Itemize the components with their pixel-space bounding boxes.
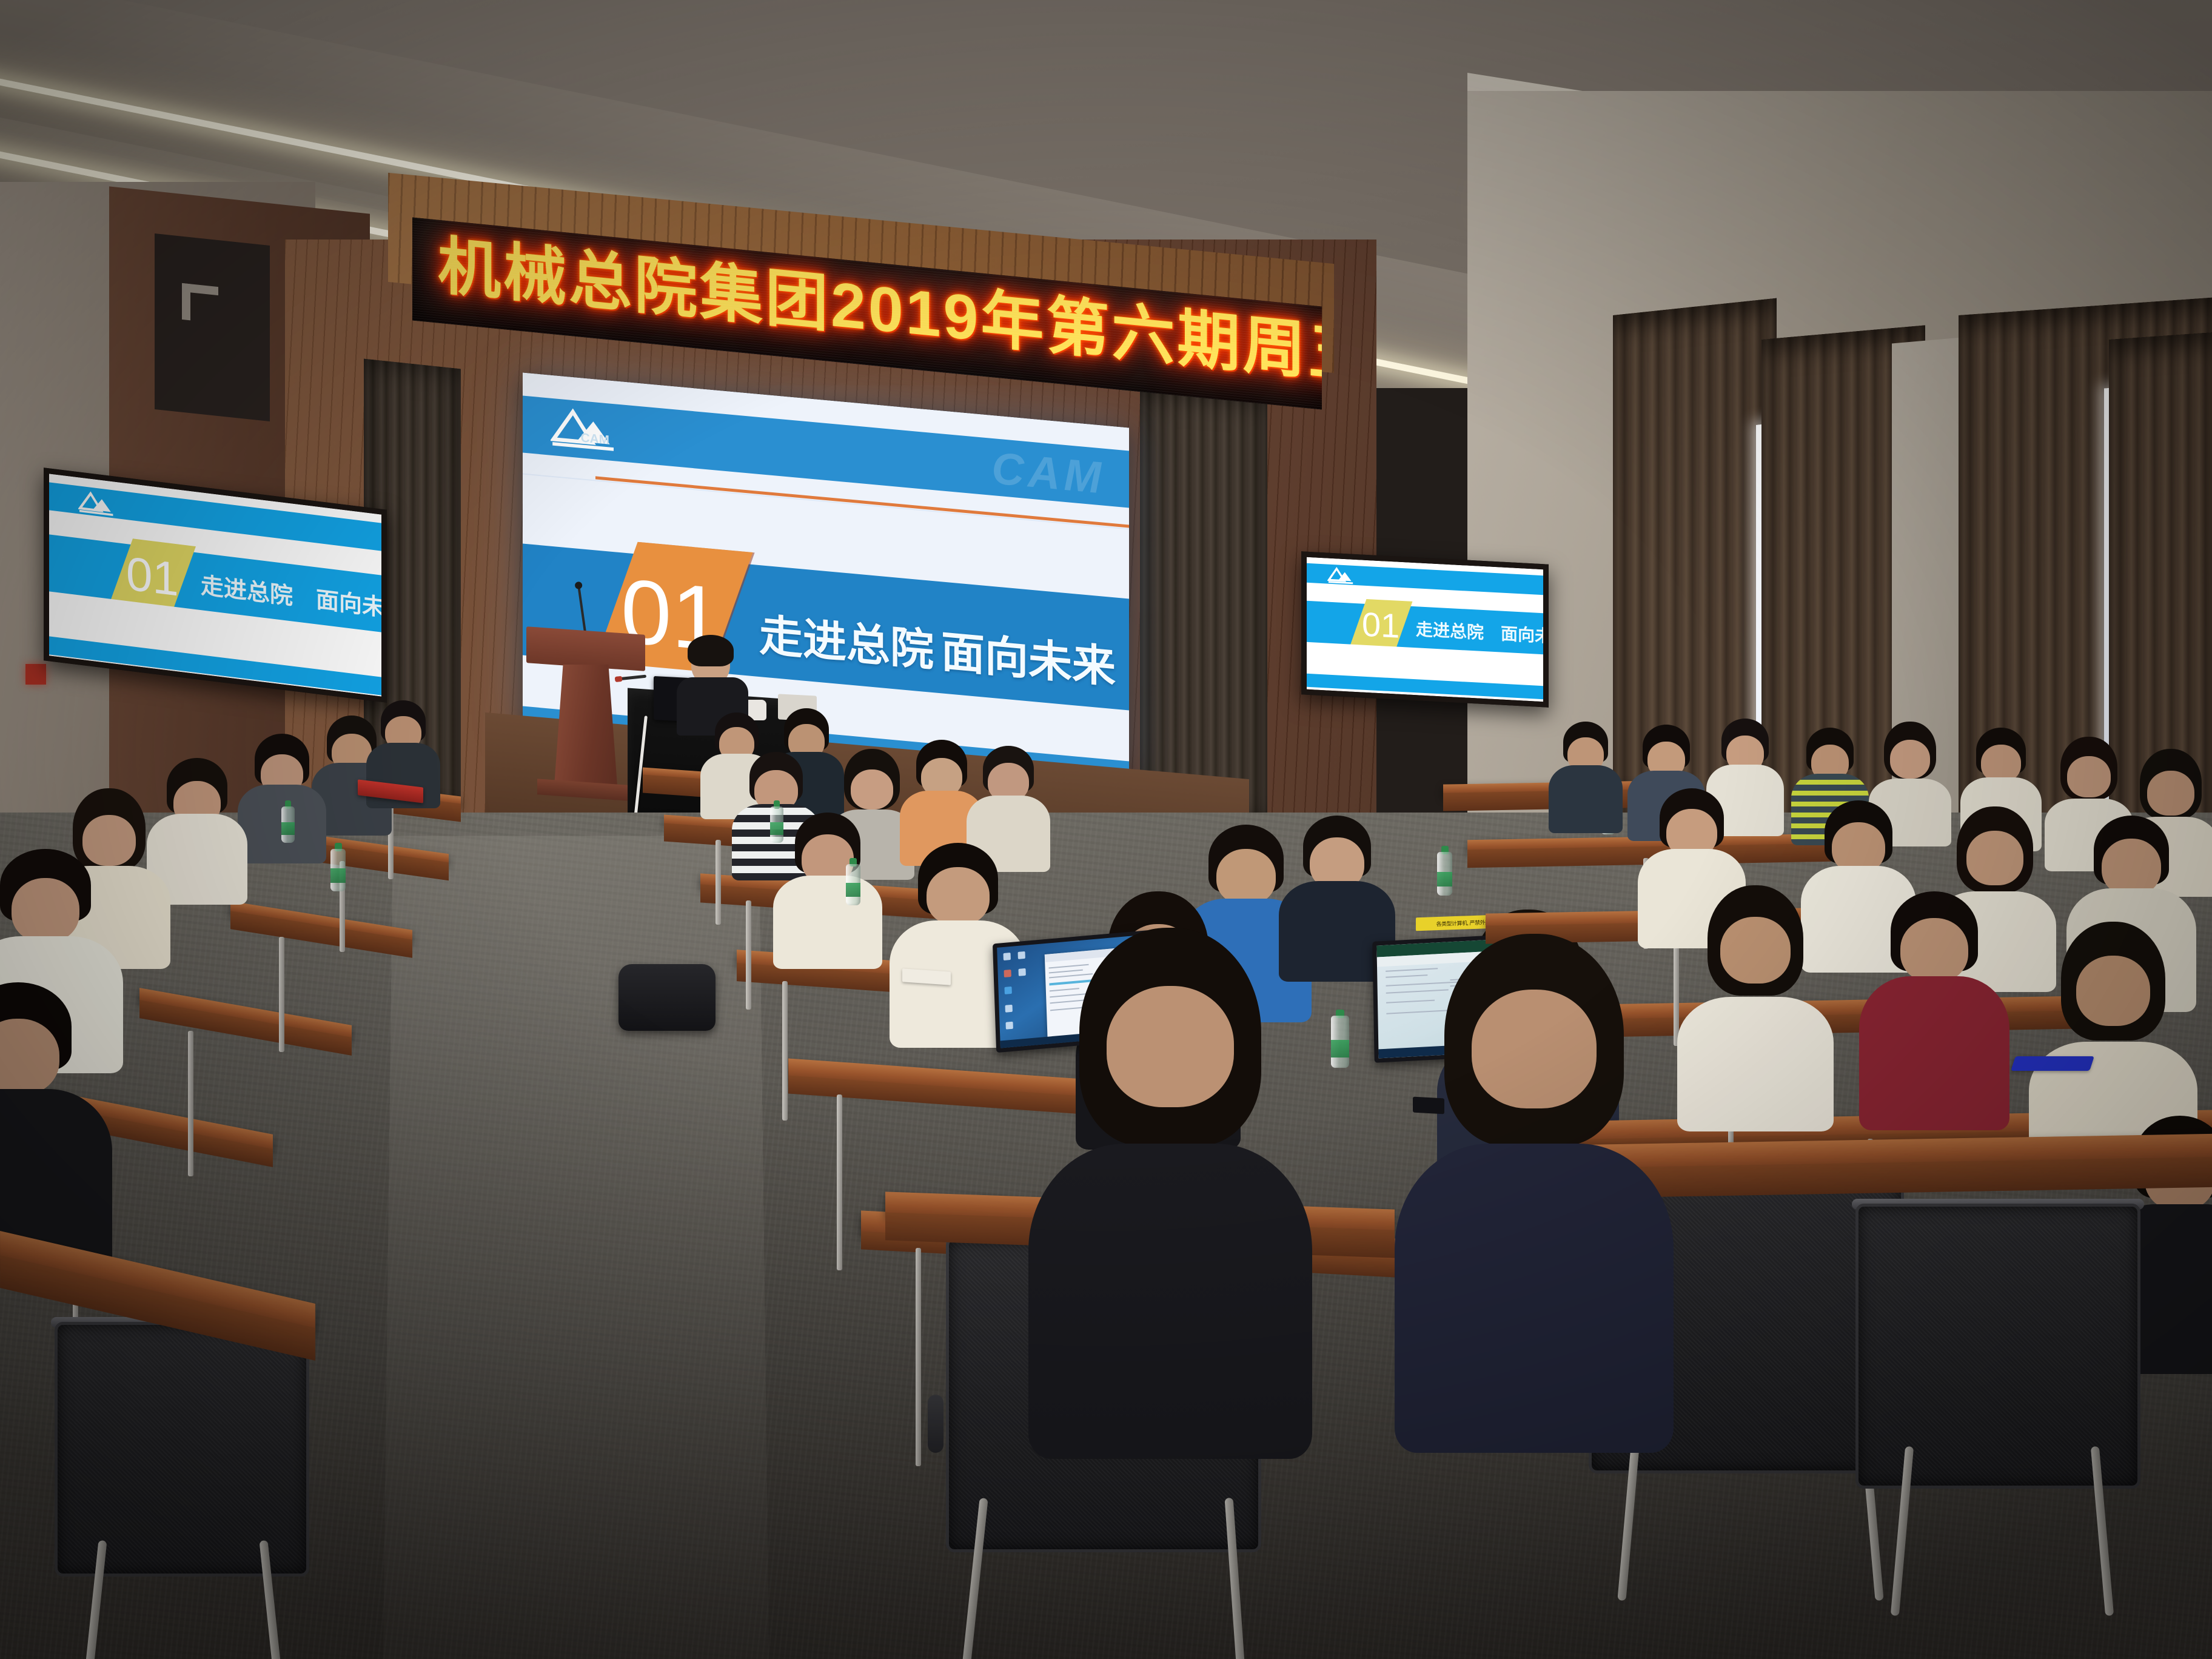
attendee [1552, 722, 1619, 828]
cam-logo-icon: CAM [551, 403, 618, 458]
blue-item-on-desk [2011, 1056, 2094, 1071]
attendee [1686, 885, 1825, 1128]
attendee [1868, 891, 2001, 1128]
right-wall-monitor: 01 走进总院 面向未来 [1301, 551, 1549, 707]
desk-leg [716, 840, 721, 925]
water-bottle [770, 800, 783, 843]
chair[interactable] [55, 1322, 309, 1577]
right-monitor-screen: 01 走进总院 面向未来 [1307, 557, 1543, 702]
attendee [779, 813, 876, 964]
water-bottle [1331, 1010, 1349, 1068]
lectern-body [554, 665, 617, 786]
attendee-foreground [1407, 934, 1661, 1455]
desk-leg [916, 1248, 921, 1466]
water-bottle [330, 843, 346, 891]
svg-text:CAM: CAM [581, 431, 609, 447]
lecture-hall-photo: 机械总院集团2019年第六期周五大讲堂 CAM CAM 01 [0, 0, 2212, 1659]
center-aisle [383, 836, 769, 1659]
slide-ghost-wordmark: CAM [991, 442, 1105, 504]
lectern [534, 631, 637, 806]
lectern-top [526, 626, 645, 671]
water-bottle [846, 858, 860, 905]
desk-leg [188, 1031, 193, 1176]
attendee [152, 758, 243, 903]
lectern-base [537, 779, 635, 801]
desk-leg [837, 1094, 842, 1270]
monitor-section-number: 01 [126, 549, 179, 603]
desk-leg [746, 900, 751, 1010]
wall-corner-marker-icon [182, 283, 218, 323]
left-monitor-screen: 01 走进总院 面向未来 [49, 474, 381, 696]
monitor-section-number: 01 [1362, 608, 1399, 643]
water-bottle [1437, 846, 1452, 896]
stage-curtain-right [1140, 389, 1267, 824]
water-bottle [281, 800, 295, 843]
backpack [618, 964, 716, 1031]
attendee [0, 982, 103, 1273]
presenter-hair [688, 635, 734, 666]
emergency-light-icon [25, 664, 46, 685]
attendee-foreground [1043, 928, 1298, 1461]
left-wall-dark-panel [155, 233, 270, 421]
desk-leg [279, 937, 284, 1052]
cam-logo-icon [1327, 566, 1355, 586]
chair[interactable] [1855, 1204, 2140, 1489]
desk-leg [782, 981, 788, 1121]
